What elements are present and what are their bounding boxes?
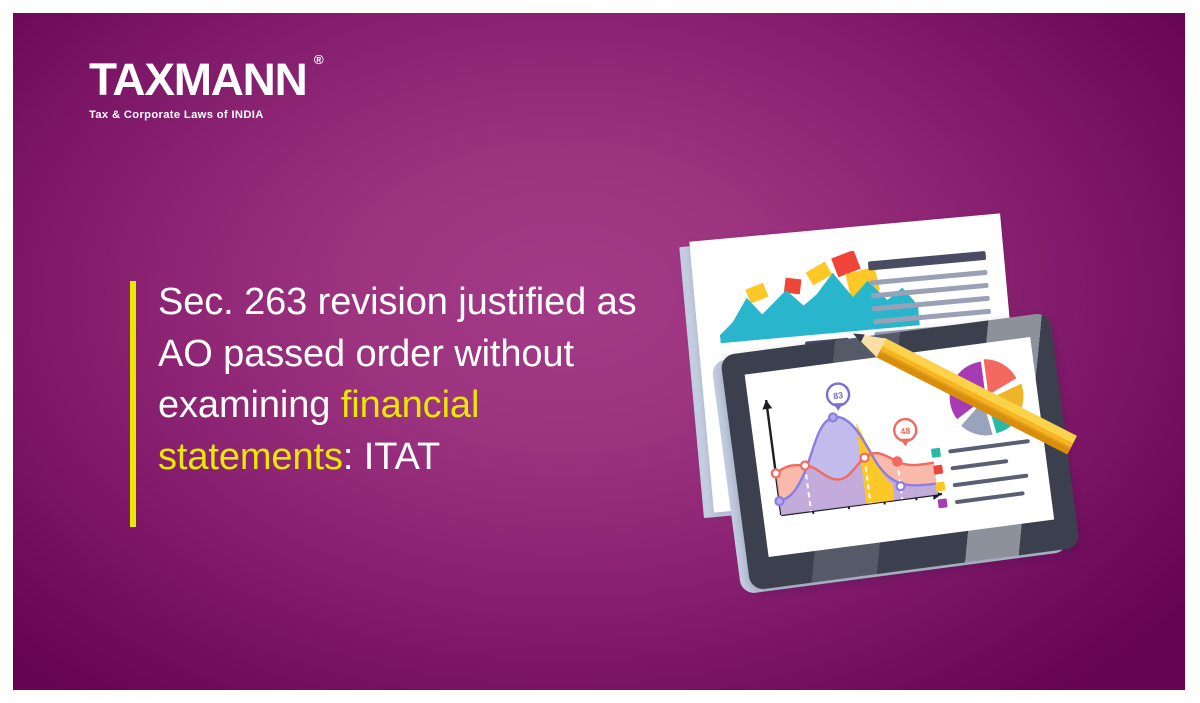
tablet-area-chart: 83 48 — [750, 359, 959, 542]
legend-label-bar — [955, 491, 1025, 504]
legend-label-bar — [953, 473, 1029, 487]
legend-label-bar — [950, 458, 1008, 470]
y-axis-arrow-icon — [761, 399, 772, 409]
badge-coral-label: 48 — [900, 426, 911, 437]
legend-swatch-red — [933, 465, 943, 475]
tablet-screen: 83 48 — [745, 337, 1055, 557]
registered-trademark-icon: ® — [314, 53, 324, 66]
paper-text-line — [872, 296, 990, 312]
paper-text-line — [870, 270, 988, 286]
logo-wordmark: TAXMANN ® — [89, 57, 308, 102]
headline-block: Sec. 263 revision justified as AO passed… — [130, 277, 650, 483]
legend-swatch-yellow — [935, 481, 945, 491]
yellow-accent-bar — [130, 281, 136, 527]
headline-part-2: : ITAT — [343, 436, 440, 478]
poster-canvas: TAXMANN ® Tax & Corporate Laws of INDIA … — [0, 0, 1200, 703]
tablet-legend — [931, 436, 1038, 516]
badge-purple: 83 — [826, 382, 851, 412]
financial-analytics-illustration: 83 48 — [685, 211, 1115, 601]
legend-swatch-teal — [931, 448, 941, 458]
legend-swatch-purple — [938, 498, 948, 508]
logo-wordmark-text: TAXMANN — [89, 54, 307, 105]
legend-item — [938, 487, 1037, 509]
logo-tagline: Tax & Corporate Laws of INDIA — [89, 109, 304, 121]
taxmann-logo: TAXMANN ® Tax & Corporate Laws of INDIA — [89, 57, 304, 121]
paper-text-line — [871, 283, 989, 299]
purple-card: TAXMANN ® Tax & Corporate Laws of INDIA … — [13, 13, 1185, 690]
page-title: Sec. 263 revision justified as AO passed… — [158, 277, 650, 483]
badge-coral: 48 — [893, 418, 918, 448]
badge-purple-label: 83 — [833, 390, 844, 401]
